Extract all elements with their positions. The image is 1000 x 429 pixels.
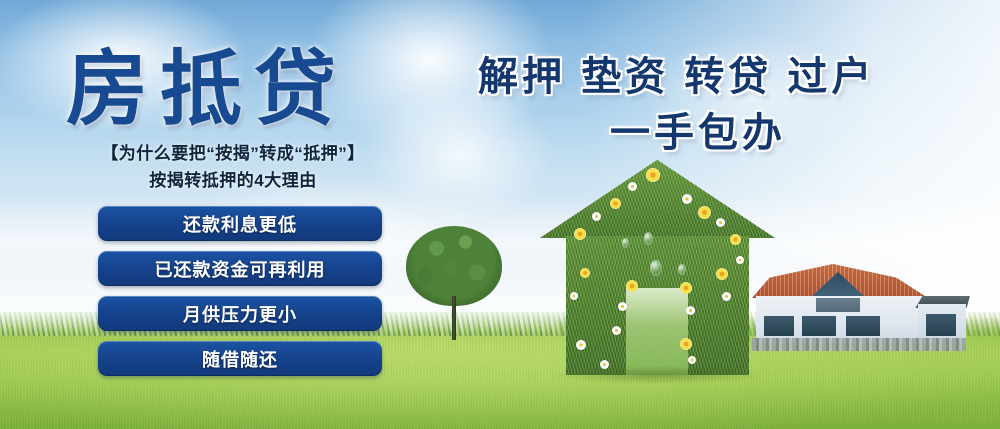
reason-button-3[interactable]: 月供压力更小 xyxy=(98,296,382,331)
reasons-button-list: 还款利息更低 已还款资金可再利用 月供压力更小 随借随还 xyxy=(98,206,382,386)
flower-icon xyxy=(574,228,586,240)
reason-button-4[interactable]: 随借随还 xyxy=(98,341,382,376)
flower-icon xyxy=(628,182,637,191)
grass-house-graphic xyxy=(540,160,775,375)
flower-icon xyxy=(612,326,621,335)
villa-house xyxy=(752,258,966,354)
services-headline-line-1: 解押 垫资 转贷 过户 xyxy=(478,44,875,102)
flower-icon xyxy=(698,206,711,219)
flower-icon xyxy=(576,340,586,350)
services-headline-line-2: 一手包办 xyxy=(478,100,918,158)
flower-icon xyxy=(680,282,692,294)
flower-icon xyxy=(626,280,638,292)
reason-button-label: 还款利息更低 xyxy=(183,211,297,237)
flower-icon xyxy=(570,292,578,300)
flower-icon xyxy=(736,256,744,264)
reason-button-label: 随借随还 xyxy=(202,346,278,372)
water-droplet-icon xyxy=(622,238,629,248)
flower-icon xyxy=(682,194,692,204)
tree-crown xyxy=(406,226,502,306)
flower-icon xyxy=(618,302,627,311)
mortgage-loan-banner: 房抵贷 【为什么要把“按揭”转成“抵押”】 按揭转抵押的4大理由 解押 垫资 转… xyxy=(0,0,1000,429)
page-title: 房抵贷 xyxy=(66,22,348,141)
flower-icon xyxy=(680,338,692,350)
grass-house-shadow xyxy=(554,366,762,384)
flower-icon xyxy=(722,292,731,301)
tree-icon xyxy=(406,226,502,338)
reason-button-label: 月供压力更小 xyxy=(183,301,297,327)
villa-window xyxy=(926,314,956,336)
flower-icon xyxy=(716,268,728,280)
villa-window xyxy=(802,316,836,336)
flower-icon xyxy=(688,356,696,364)
water-droplet-icon xyxy=(644,232,653,245)
flower-icon xyxy=(646,168,660,182)
reason-button-1[interactable]: 还款利息更低 xyxy=(98,206,382,241)
flower-icon xyxy=(730,234,741,245)
subtitle-question: 【为什么要把“按揭”转成“抵押”】 xyxy=(68,139,398,164)
villa-window xyxy=(816,298,860,312)
reason-button-label: 已还款资金可再利用 xyxy=(155,256,326,282)
grass-house-doorway xyxy=(626,288,688,375)
flower-icon xyxy=(610,198,621,209)
reason-button-2[interactable]: 已还款资金可再利用 xyxy=(98,251,382,286)
water-droplet-icon xyxy=(650,260,662,276)
flower-icon xyxy=(580,268,590,278)
flower-icon xyxy=(592,212,601,221)
flower-icon xyxy=(686,306,695,315)
tree-trunk xyxy=(452,296,456,340)
flower-icon xyxy=(600,360,609,369)
villa-stone-wall xyxy=(752,338,966,351)
water-droplet-icon xyxy=(678,264,686,275)
subtitle-reasons-count: 按揭转抵押的4大理由 xyxy=(68,166,398,191)
villa-window xyxy=(846,316,880,336)
flower-icon xyxy=(716,218,725,227)
